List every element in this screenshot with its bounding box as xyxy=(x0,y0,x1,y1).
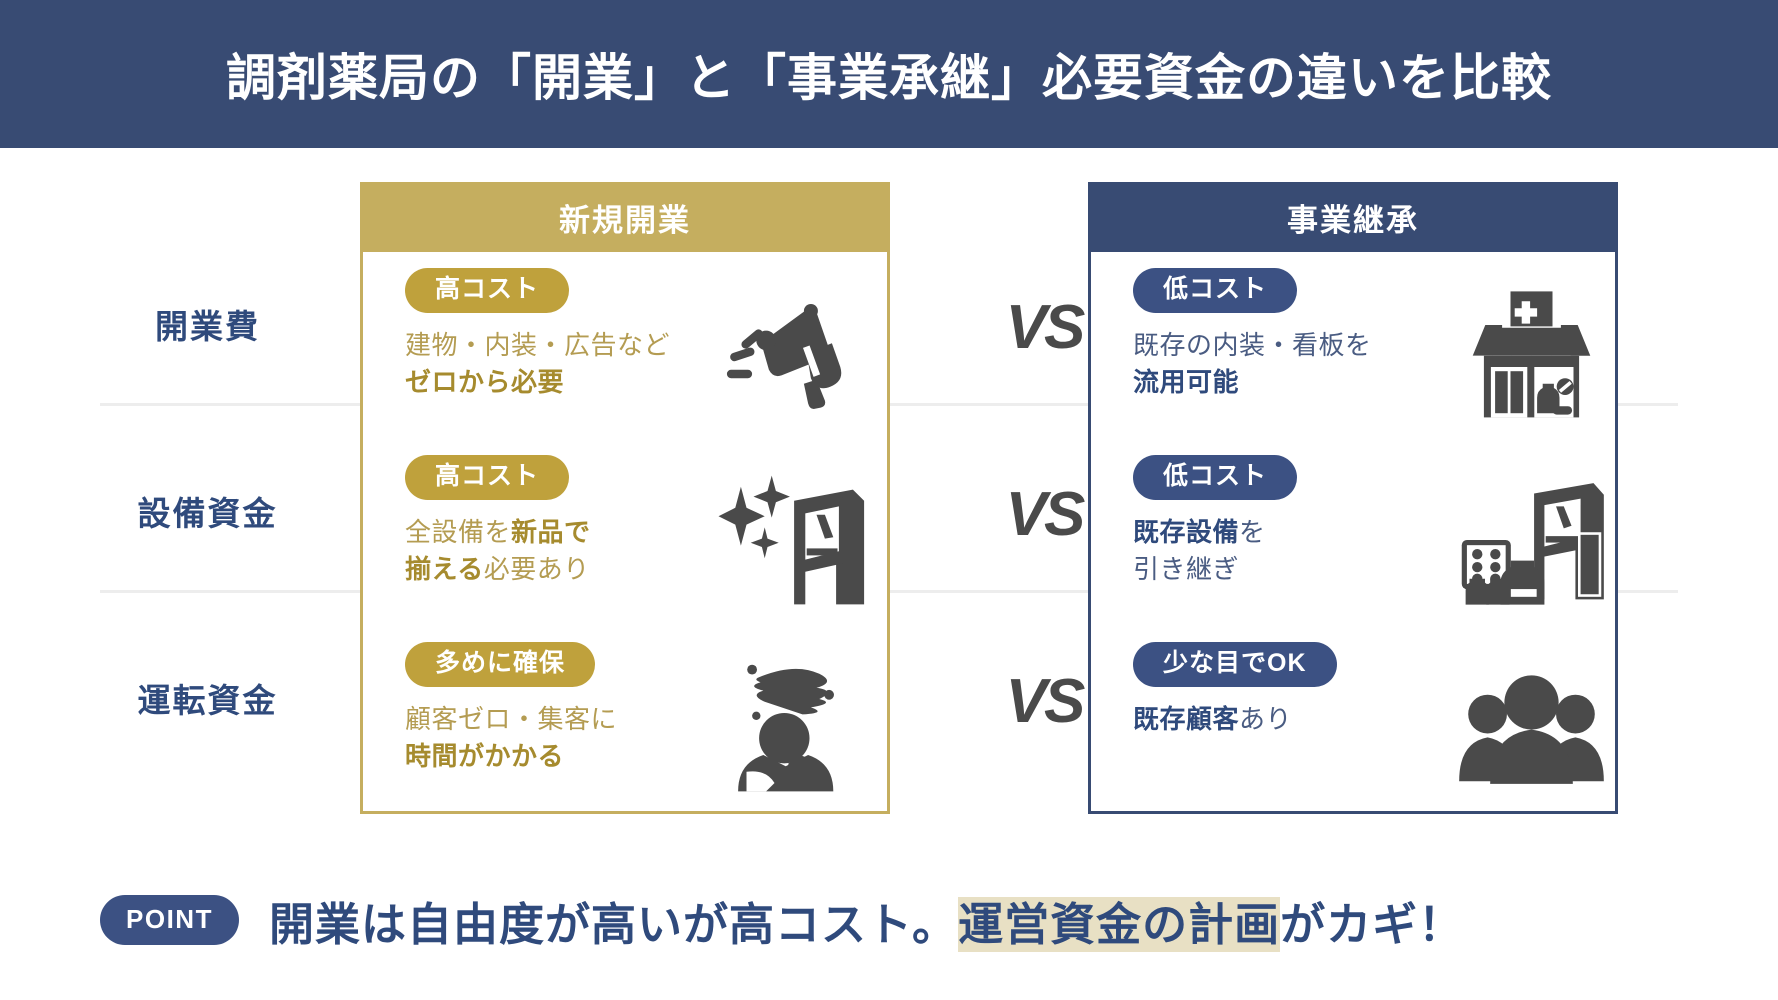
badge-cost-level: 多めに確保 xyxy=(405,642,595,687)
column-business-succession: 事業継承 低コスト 既存の内装・看板を 流用可能 xyxy=(1088,182,1618,814)
point-badge: POINT xyxy=(100,895,239,945)
point-text-after: がカギ！ xyxy=(1280,899,1464,950)
cell-right-setsubi: 低コスト 既存設備を 引き継ぎ xyxy=(1091,439,1615,626)
worried-person-icon xyxy=(718,657,873,797)
new-kiosk-sparkle-icon xyxy=(718,470,873,610)
cell-right-unten: 少な目でOK 既存顧客あり xyxy=(1091,626,1615,813)
row-label-kaigyohi: 開業費 xyxy=(100,300,315,348)
megaphone-icon xyxy=(718,283,873,423)
cell-right-kaigyohi: 低コスト 既存の内装・看板を 流用可能 xyxy=(1091,252,1615,439)
infographic-slide: 調剤薬局の「開業」と「事業承継」必要資金の違いを比較 開業費 設備資金 運転資金… xyxy=(0,0,1778,1000)
column-body-left: 高コスト 建物・内装・広告など ゼロから必要 xyxy=(360,252,890,814)
column-body-right: 低コスト 既存の内装・看板を 流用可能 xyxy=(1088,252,1618,814)
title-bar: 調剤薬局の「開業」と「事業承継」必要資金の違いを比較 xyxy=(0,0,1778,148)
badge-cost-level: 高コスト xyxy=(405,268,569,313)
vs-mark: VS xyxy=(990,662,1098,742)
point-summary-row: POINT 開業は自由度が高いが高コスト。運営資金の計画がカギ！ xyxy=(0,880,1778,960)
cell-left-kaigyohi: 高コスト 建物・内装・広告など ゼロから必要 xyxy=(363,252,887,439)
column-header-right: 事業継承 xyxy=(1088,182,1618,252)
medicine-and-kiosk-icon xyxy=(1454,470,1609,610)
comparison-table: 開業費 設備資金 運転資金 VS VS VS 新規開業 高コスト 建物・内装・広… xyxy=(0,148,1778,858)
cell-left-setsubi: 高コスト 全設備を新品で 揃える必要あり xyxy=(363,439,887,626)
cell-left-unten: 多めに確保 顧客ゼロ・集客に 時間がかかる xyxy=(363,626,887,813)
vs-mark: VS xyxy=(990,475,1098,555)
point-text: 開業は自由度が高いが高コスト。運営資金の計画がカギ！ xyxy=(269,888,1464,953)
badge-cost-level: 高コスト xyxy=(405,455,569,500)
point-text-highlight: 運営資金の計画 xyxy=(958,897,1280,952)
point-text-before: 開業は自由度が高いが高コスト。 xyxy=(269,899,958,950)
page-title: 調剤薬局の「開業」と「事業承継」必要資金の違いを比較 xyxy=(226,38,1552,110)
column-header-left: 新規開業 xyxy=(360,182,890,252)
badge-cost-level: 少な目でOK xyxy=(1133,642,1337,687)
badge-cost-level: 低コスト xyxy=(1133,455,1297,500)
vs-mark: VS xyxy=(990,288,1098,368)
row-label-unten: 運転資金 xyxy=(100,674,315,722)
row-label-setsubi: 設備資金 xyxy=(100,487,315,535)
people-group-icon xyxy=(1454,657,1609,797)
badge-cost-level: 低コスト xyxy=(1133,268,1297,313)
pharmacy-storefront-icon xyxy=(1454,283,1609,423)
column-new-opening: 新規開業 高コスト 建物・内装・広告など ゼロから必要 xyxy=(360,182,890,814)
